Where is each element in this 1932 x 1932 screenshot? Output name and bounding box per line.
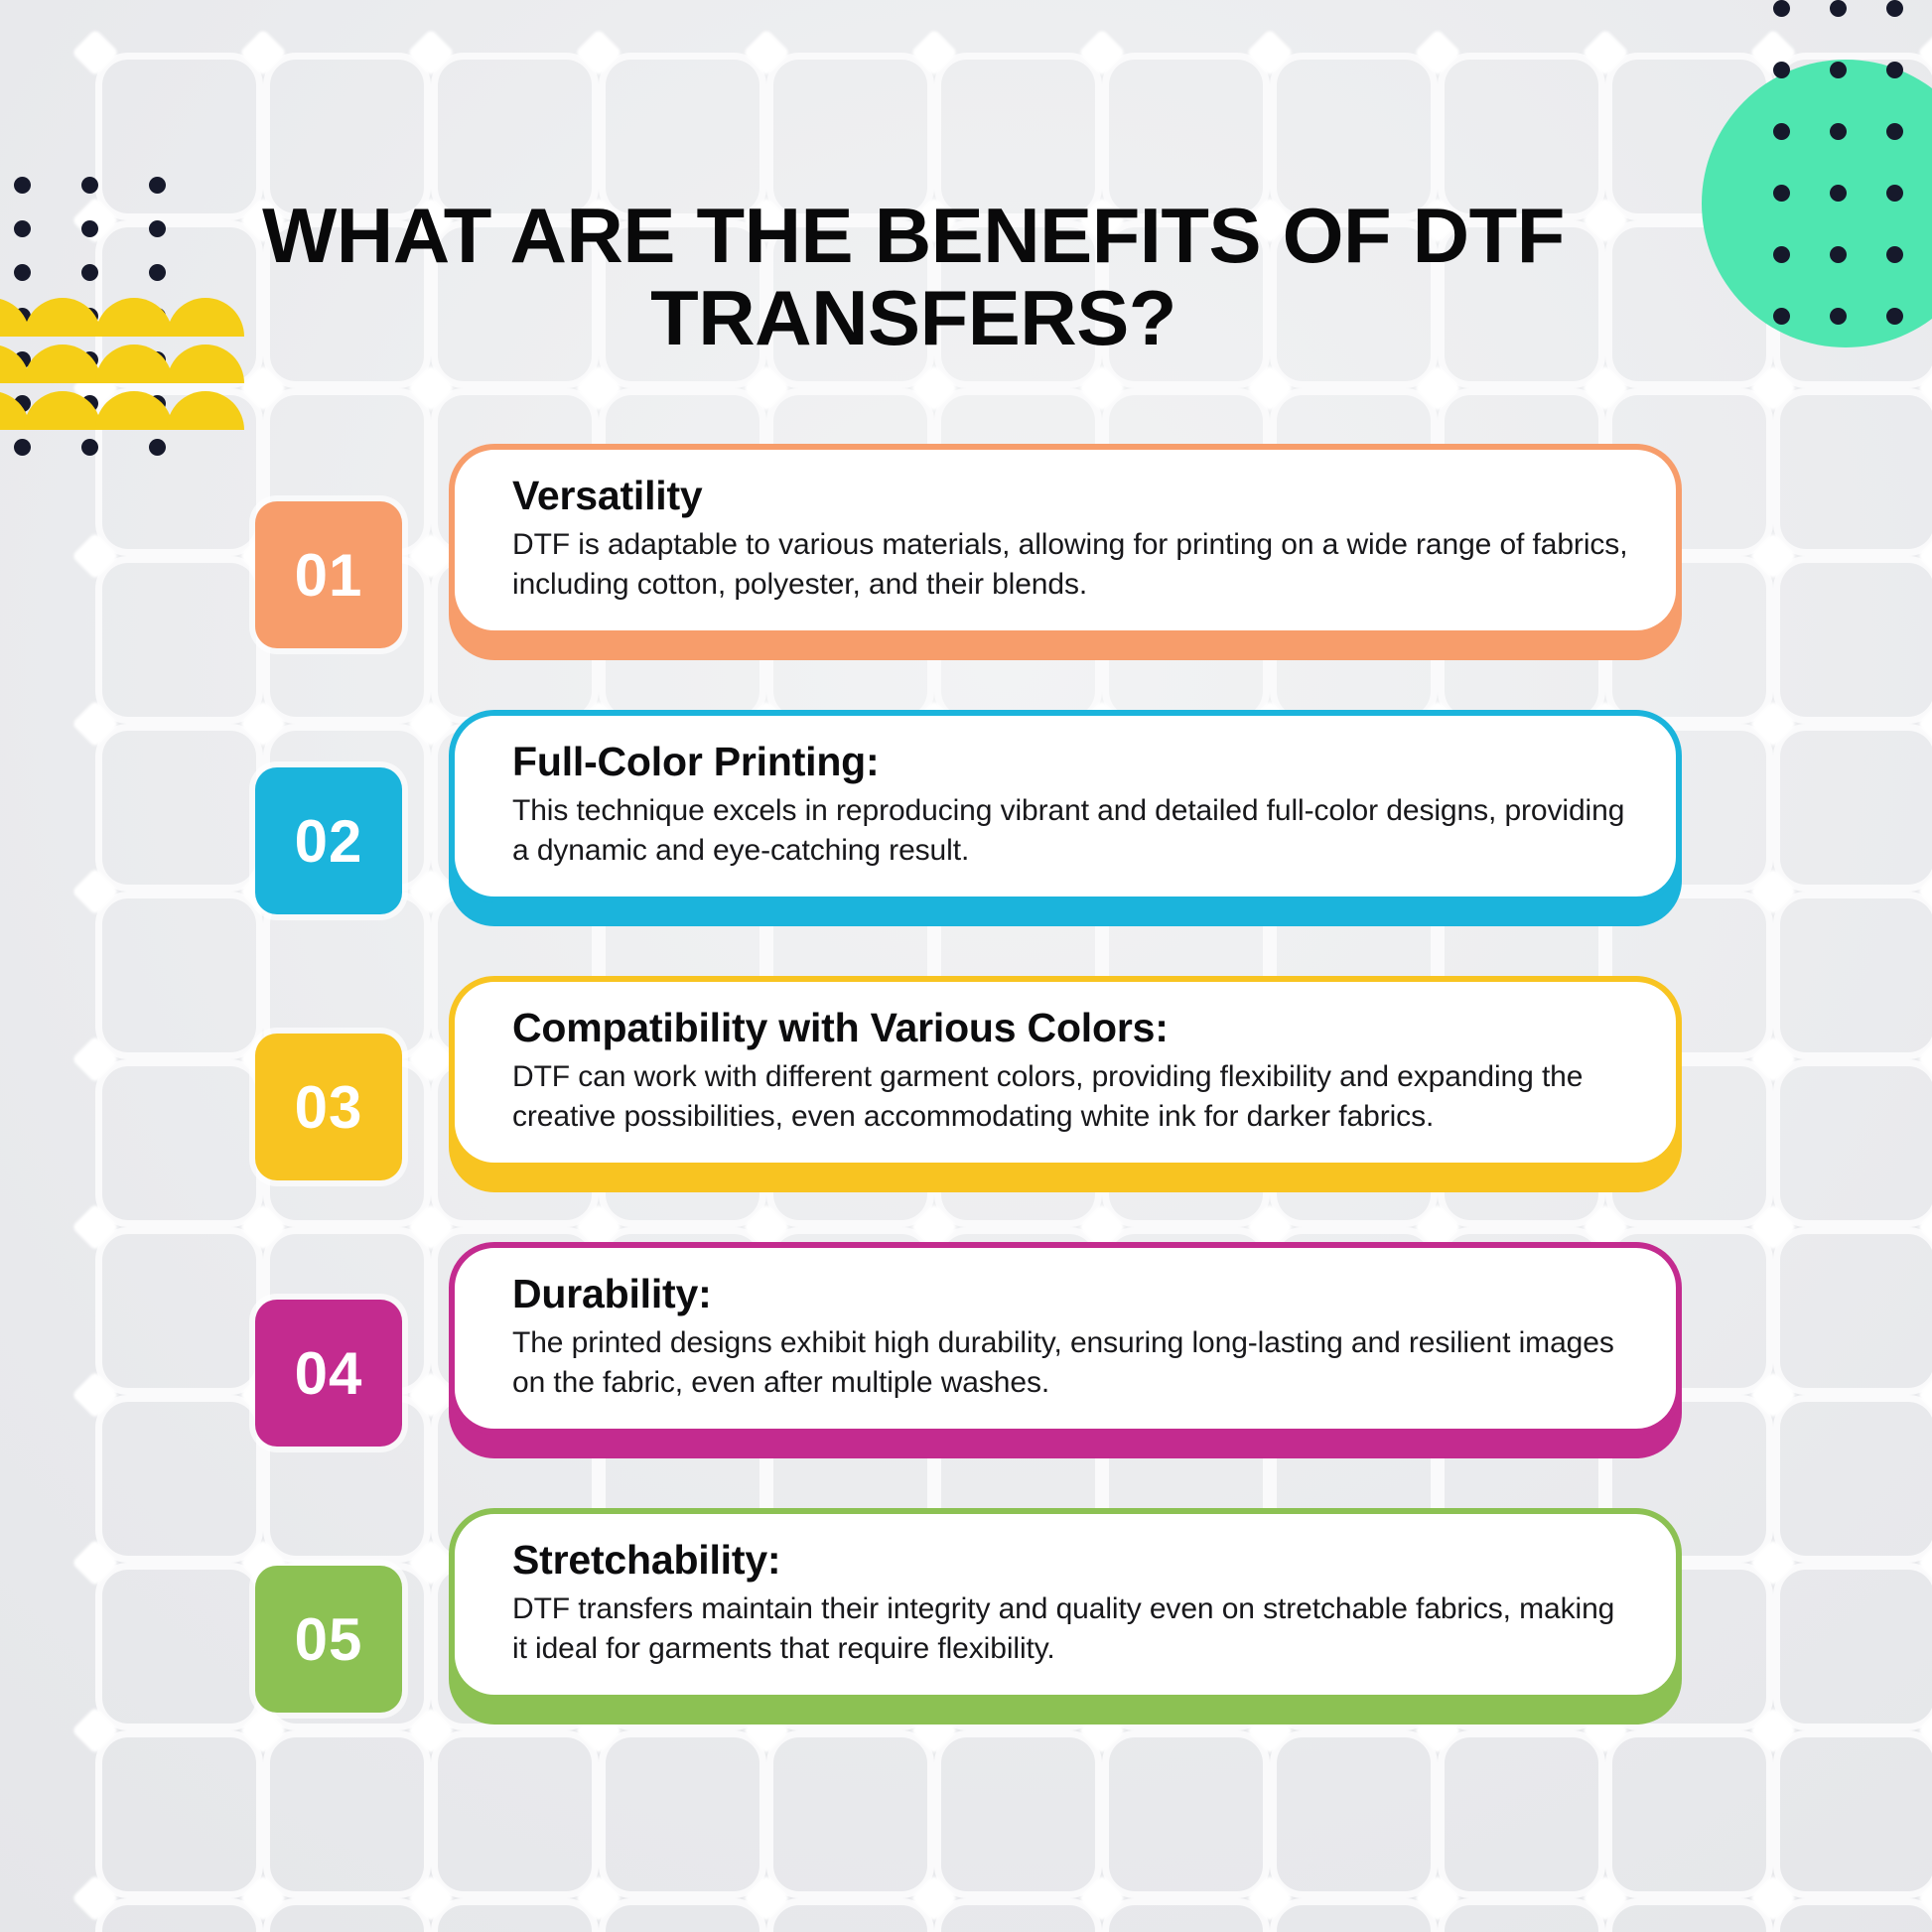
grid-node [743,1874,790,1922]
decorative-dot [149,264,166,281]
decorative-dot [1773,0,1790,17]
benefit-card-02[interactable]: Full-Color Printing: This technique exce… [449,710,1682,902]
grid-cell [102,1905,256,1932]
grid-node [1246,1874,1294,1922]
grid-cell [438,1905,592,1932]
decorative-dot [1773,62,1790,78]
grid-node [1414,29,1461,76]
decorative-dot [149,177,166,194]
grid-node [1917,364,1932,412]
card-body-04: The printed designs exhibit high durabil… [512,1323,1636,1402]
card-heading-02: Full-Color Printing: [512,738,1636,785]
decorative-dot [1830,185,1847,202]
grid-cell [270,1905,424,1932]
list-item: 02 Full-Color Printing: This technique e… [0,714,1932,976]
grid-node [239,1874,287,1922]
benefit-card-04[interactable]: Durability: The printed designs exhibit … [449,1242,1682,1435]
grid-cell [1612,1905,1766,1932]
decorative-dot [1773,246,1790,263]
decorative-dot [14,177,31,194]
grid-cell [1780,1905,1932,1932]
grid-node [71,29,119,76]
semicircle-shape [24,298,101,337]
infographic-canvas: WHAT ARE THE BENEFITS OF DTF TRANSFERS? … [0,0,1932,1932]
number-badge-04: 04 [255,1300,402,1447]
card-heading-01: Versatility [512,472,1636,519]
grid-cell [941,60,1095,213]
grid-node [407,364,455,412]
grid-node [575,29,622,76]
semicircle-shape [95,298,173,337]
semicircle-shape [167,391,244,430]
card-wrapper-03: Compatibility with Various Colors: DTF c… [449,976,1682,1169]
decorative-dot [1830,62,1847,78]
card-body-01: DTF is adaptable to various materials, a… [512,525,1636,604]
decorative-dot [1830,0,1847,17]
semicircle-shape [95,345,173,383]
grid-cell [773,1905,927,1932]
grid-node [910,29,958,76]
grid-cell [438,60,592,213]
decorative-dot [1886,62,1903,78]
grid-cell [1277,60,1431,213]
grid-cell [1109,60,1263,213]
decorative-dot [1886,0,1903,17]
grid-cell [941,1905,1095,1932]
benefit-card-05[interactable]: Stretchability: DTF transfers maintain t… [449,1508,1682,1701]
card-body-03: DTF can work with different garment colo… [512,1057,1636,1136]
card-wrapper-02: Full-Color Printing: This technique exce… [449,710,1682,902]
grid-node [1246,29,1294,76]
decorative-dot [149,220,166,237]
grid-node [910,1874,958,1922]
grid-cell [606,60,759,213]
card-wrapper-05: Stretchability: DTF transfers maintain t… [449,1508,1682,1701]
benefits-list: 01 Versatility DTF is adaptable to vario… [0,452,1932,1762]
grid-node [1078,29,1126,76]
card-wrapper-04: Durability: The printed designs exhibit … [449,1242,1682,1435]
grid-node [1917,29,1932,76]
grid-node [1582,1874,1629,1922]
grid-node [1749,364,1797,412]
grid-node [575,364,622,412]
list-item: 01 Versatility DTF is adaptable to vario… [0,452,1932,714]
list-item: 03 Compatibility with Various Colors: DT… [0,976,1932,1238]
grid-cell [606,1905,759,1932]
grid-node [71,197,119,244]
page-title: WHAT ARE THE BENEFITS OF DTF TRANSFERS? [195,195,1632,360]
card-heading-05: Stretchability: [512,1536,1636,1584]
mint-circle-decoration [1702,60,1932,347]
decorative-dot [14,220,31,237]
card-heading-03: Compatibility with Various Colors: [512,1004,1636,1051]
grid-node [407,1874,455,1922]
grid-node [407,29,455,76]
grid-node [1917,1874,1932,1922]
grid-cell [1109,1905,1263,1932]
grid-cell [1277,1905,1431,1932]
card-wrapper-01: Versatility DTF is adaptable to various … [449,444,1682,636]
list-item: 05 Stretchability: DTF transfers maintai… [0,1500,1932,1762]
grid-node [239,29,287,76]
grid-node [1414,364,1461,412]
decorative-dot [1830,308,1847,325]
card-body-05: DTF transfers maintain their integrity a… [512,1589,1636,1668]
grid-node [239,364,287,412]
decorative-dot [81,177,98,194]
list-item: 04 Durability: The printed designs exhib… [0,1238,1932,1500]
grid-cell [773,60,927,213]
decorative-dot [81,264,98,281]
semicircle-shape [24,345,101,383]
grid-cell [1445,60,1598,213]
grid-node [910,364,958,412]
decorative-dot [1773,308,1790,325]
grid-node [743,364,790,412]
decorative-dot [1773,185,1790,202]
grid-node [1246,364,1294,412]
grid-node [1582,29,1629,76]
decorative-dot [1886,185,1903,202]
number-badge-03: 03 [255,1034,402,1180]
card-heading-04: Durability: [512,1270,1636,1317]
benefit-card-01[interactable]: Versatility DTF is adaptable to various … [449,444,1682,636]
grid-node [1582,364,1629,412]
number-badge-05: 05 [255,1566,402,1713]
decorative-dot [81,220,98,237]
grid-cell [270,60,424,213]
grid-node [1749,1874,1797,1922]
decorative-dot [1773,123,1790,140]
card-body-02: This technique excels in reproducing vib… [512,791,1636,870]
number-badge-01: 01 [255,501,402,648]
decorative-dot [1830,246,1847,263]
grid-node [1078,364,1126,412]
grid-cell [102,60,256,213]
decorative-dot [1886,123,1903,140]
grid-node [71,1874,119,1922]
number-badge-02: 02 [255,767,402,914]
decorative-dot [1886,308,1903,325]
grid-node [743,29,790,76]
grid-cell [1445,1905,1598,1932]
grid-node [1414,1874,1461,1922]
decorative-dot [1830,123,1847,140]
decorative-dot [1886,246,1903,263]
decorative-dot [14,264,31,281]
grid-node [575,1874,622,1922]
grid-node [1078,1874,1126,1922]
benefit-card-03[interactable]: Compatibility with Various Colors: DTF c… [449,976,1682,1169]
